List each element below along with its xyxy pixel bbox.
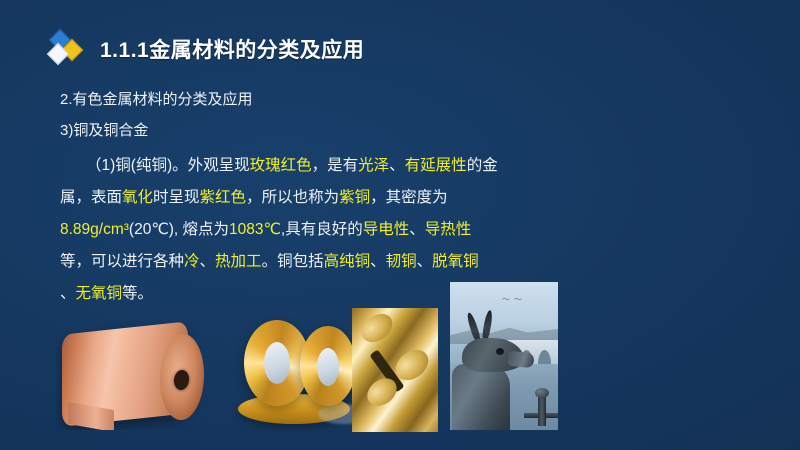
paragraph-line: 属，表面氧化时呈现紫红色，所以也称为紫铜，其密度为 (60, 182, 600, 214)
highlighted-term: 热加工 (215, 253, 262, 270)
copper-foil-roll-image (56, 320, 216, 430)
highlighted-term: 8.89g/cm³ (60, 221, 129, 238)
highlighted-term: 导电性 (363, 221, 410, 238)
highlighted-term: 有延展性 (405, 157, 467, 174)
plain-text-run: 。铜包括 (262, 253, 324, 270)
coil-ring-right (300, 326, 356, 406)
bronze-ox-statue-image: 〜〜 (450, 282, 558, 430)
slide-title-row: 1.1.1金属材料的分类及应用 (44, 26, 364, 72)
paragraph-line: 等，可以进行各种冷、热加工。铜包括高纯铜、韧铜、脱氧铜 (60, 246, 600, 278)
heading-level-2: 2.有色金属材料的分类及应用 (60, 84, 600, 115)
highlighted-term: 高纯铜 (324, 253, 371, 270)
brass-rods-image (352, 308, 438, 432)
plain-text-run: ,具有良好的 (281, 221, 363, 238)
plain-text-run: 时呈现 (153, 189, 200, 206)
plain-text-run: 、 (409, 221, 425, 238)
plain-text-run: 、 (370, 253, 386, 270)
highlighted-term: 紫铜 (339, 189, 370, 206)
ox-eye (496, 348, 504, 355)
ox-muzzle (507, 351, 534, 369)
plain-text-run: ，所以也称为 (246, 189, 339, 206)
slide-canvas: 1.1.1金属材料的分类及应用 2.有色金属材料的分类及应用 3)铜及铜合金 （… (0, 0, 800, 450)
highlighted-term: 导热性 (425, 221, 472, 238)
diamond-logo-icon (44, 28, 88, 70)
highlighted-term: 光泽 (358, 157, 389, 174)
plain-text-run: (20℃), 熔点为 (129, 221, 229, 238)
plain-text-run: （1)铜(纯铜)。外观呈现 (86, 157, 250, 174)
highlighted-term: 氧化 (122, 189, 153, 206)
plain-text-run: ，其密度为 (370, 189, 448, 206)
paragraph-line: 8.89g/cm³(20℃), 熔点为1083℃,具有良好的导电性、导热性 (60, 214, 600, 246)
birds-icon: 〜〜 (502, 294, 526, 305)
railing-post-cap (535, 388, 549, 398)
coil-ring-right-hole (317, 348, 339, 386)
plain-text-run: ，是有 (312, 157, 359, 174)
heading-level-3: 3)铜及铜合金 (60, 115, 600, 146)
plain-text-run: 、 (389, 157, 405, 174)
highlighted-term: 冷 (184, 253, 200, 270)
photo-strip: 〜〜 (56, 282, 556, 432)
plain-text-run: 属，表面 (60, 189, 122, 206)
page-title: 1.1.1金属材料的分类及应用 (100, 34, 364, 64)
plain-text-run: 、 (200, 253, 216, 270)
paragraph-line: （1)铜(纯铜)。外观呈现玫瑰红色，是有光泽、有延展性的金 (60, 150, 600, 182)
highlighted-term: 玫瑰红色 (250, 157, 312, 174)
plain-text-run: 等，可以进行各种 (60, 253, 184, 270)
railing-post (538, 396, 546, 426)
coil-ring-left-hole (264, 342, 290, 384)
highlighted-term: 紫红色 (200, 189, 247, 206)
content-body: 2.有色金属材料的分类及应用 3)铜及铜合金 （1)铜(纯铜)。外观呈现玫瑰红色… (60, 84, 600, 310)
highlighted-term: 1083℃ (229, 221, 281, 238)
highlighted-term: 脱氧铜 (432, 253, 479, 270)
plain-text-run: 的金 (467, 157, 498, 174)
ox-body (452, 364, 510, 430)
bridge-arch (538, 350, 551, 364)
highlighted-term: 韧铜 (386, 253, 417, 270)
plain-text-run: 、 (417, 253, 433, 270)
